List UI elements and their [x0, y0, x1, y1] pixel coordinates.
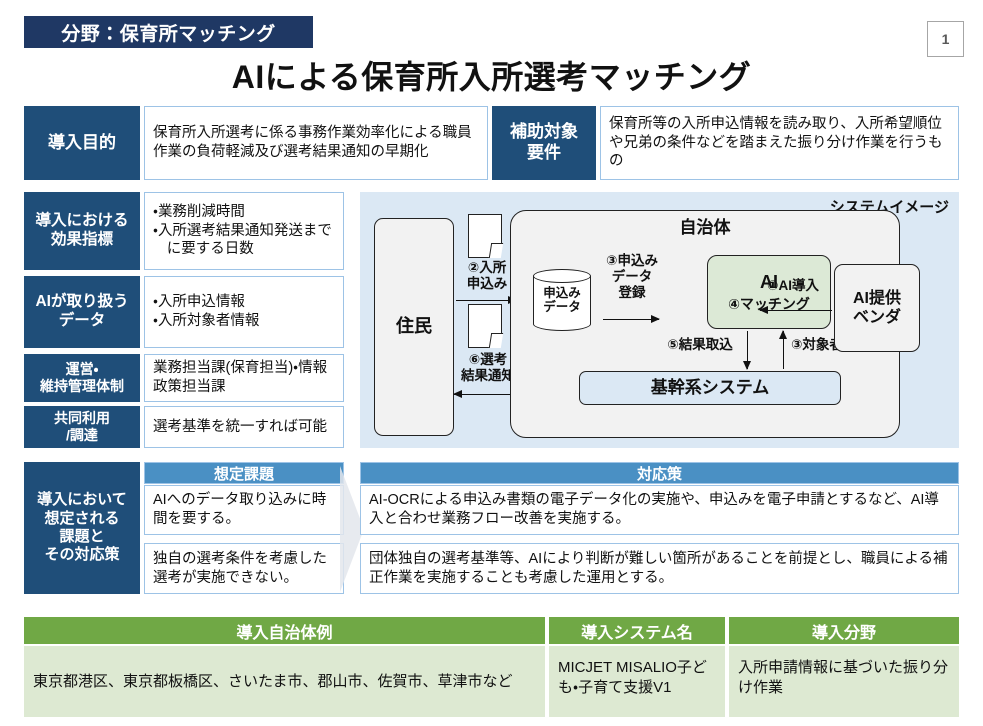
flow-6-arrow [454, 394, 514, 395]
ai-data-label-line2: データ [59, 312, 106, 329]
subsidy-text: 保育所等の入所申込情報を読み取り、入所希望順位や兄弟の条件などを踏まえた振り分け… [601, 110, 958, 176]
citizen-box: 住民 [374, 218, 454, 436]
issues-label-line4: その対応策 [44, 546, 119, 563]
slide-root: 分野：保育所マッチング 1 AIによる保育所入所選考マッチング 導入目的 保育所… [0, 0, 983, 726]
table-cell-system-name: MICJET MISALIO子ども・子育て支援V1 [549, 646, 727, 717]
shared-use-label-line1: 共同利用 [54, 410, 110, 426]
shared-use-value: 選考基準を統一すれば可能 [144, 406, 344, 448]
assumed-issue-1-text: AIへのデータ取り込みに時間を要する。 [145, 486, 343, 533]
kpi-label: 導入における 効果指標 [24, 192, 140, 270]
table-header-system-name: 導入システム名 [549, 617, 727, 644]
flow-2-arrow [456, 300, 516, 301]
database-label: 申込みデータ [533, 286, 591, 315]
flow-5-arrow [747, 331, 748, 369]
issues-label-line3: 課題と [59, 528, 104, 545]
purpose-value: 保育所入所選考に係る事務作業効率化による職員作業の負荷軽減及び選考結果通知の早期… [144, 106, 488, 180]
flow-5-label: ⑤結果取込 [659, 337, 741, 353]
ai-data-list: ・入所申込情報 ・入所対象者情報 [145, 288, 343, 335]
page-title: AIによる保育所入所選考マッチング [0, 52, 983, 98]
table-cell-system-name-text: MICJET MISALIO子ども・子育て支援V1 [549, 646, 725, 709]
assumed-issue-1: AIへのデータ取り込みに時間を要する。 [144, 485, 344, 535]
measure-header: 対応策 [360, 462, 959, 484]
kpi-value: ・業務削減時間 ・入所選考結果通知発送までに要する日数 [144, 192, 344, 270]
flow-3-register-arrow [603, 319, 659, 320]
subsidy-value: 保育所等の入所申込情報を読み取り、入所希望順位や兄弟の条件などを踏まえた振り分け… [600, 106, 959, 180]
assumed-issue-2: 独自の選考条件を考慮した選考が実施できない。 [144, 543, 344, 594]
flow-1-label: ①AI導入 [756, 278, 830, 294]
flow-3-target-arrow [783, 331, 784, 369]
kpi-label-line2: 効果指標 [51, 231, 113, 248]
table-cell-municipalities-text: 東京都港区、東京都板橋区、さいたま市、郡山市、佐賀市、草津市など [24, 660, 522, 704]
operations-value: 業務担当課(保育担当)・情報政策担当課 [144, 354, 344, 402]
ai-data-item-0: ・入所申込情報 [153, 293, 335, 312]
table-cell-field: 入所申請情報に基づいた振り分け作業 [729, 646, 959, 717]
application-database-icon: 申込みデータ [533, 269, 591, 331]
assumed-issue-header: 想定課題 [144, 462, 344, 484]
operations-text: 業務担当課(保育担当)・情報政策担当課 [145, 354, 343, 401]
adoption-table: 導入自治体例 導入システム名 導入分野 東京都港区、東京都板橋区、さいたま市、郡… [24, 617, 959, 717]
flow-1-arrow [760, 310, 832, 311]
purpose-text: 保育所入所選考に係る事務作業効率化による職員作業の負荷軽減及び選考結果通知の早期… [145, 119, 487, 166]
category-banner: 分野：保育所マッチング [24, 16, 313, 48]
kpi-item-0: ・業務削減時間 [153, 203, 335, 222]
operations-label: 運営・ 維持管理体制 [24, 354, 140, 402]
system-image-diagram: システムイメージ 住民 ②入所申込み ⑥選考結果通知 自治体 申込みデータ [360, 192, 959, 448]
ai-vendor-line1: AI提供 [853, 289, 901, 308]
issues-label-line2: 想定される [44, 510, 119, 527]
operations-label-line1: 運営・ [66, 361, 99, 377]
operations-label-line2: 維持管理体制 [40, 378, 124, 394]
ai-data-label: AIが取り扱う データ [24, 276, 140, 348]
kpi-label-line1: 導入における [35, 212, 128, 229]
subsidy-label-line2: 要件 [527, 143, 561, 162]
measure-1: AI-OCRによる申込み書類の電子データ化の実施や、申込みを電子申請とするなど、… [360, 485, 959, 535]
shared-use-text: 選考基準を統一すれば可能 [145, 413, 343, 442]
ai-data-item-1: ・入所対象者情報 [153, 312, 335, 331]
municipality-title: 自治体 [511, 218, 899, 238]
subsidy-label-line1: 補助対象 [510, 122, 578, 141]
measure-2: 団体独自の選考基準等、AIにより判断が難しい箇所があることを前提とし、職員による… [360, 543, 959, 594]
kpi-list: ・業務削減時間 ・入所選考結果通知発送までに要する日数 [145, 198, 343, 264]
shared-use-label: 共同利用 /調達 [24, 406, 140, 448]
table-cell-municipalities: 東京都港区、東京都板橋区、さいたま市、郡山市、佐賀市、草津市など [24, 646, 547, 717]
flow-3-register-label: ③申込み データ 登録 [597, 253, 667, 302]
shared-use-label-line2: /調達 [66, 427, 98, 443]
ai-data-value: ・入所申込情報 ・入所対象者情報 [144, 276, 344, 348]
notification-document-icon [468, 304, 502, 348]
subsidy-label: 補助対象 要件 [492, 106, 596, 180]
table-header-field: 導入分野 [729, 617, 959, 644]
ai-data-label-line1: AIが取り扱う [35, 293, 128, 310]
table-header-municipalities: 導入自治体例 [24, 617, 547, 644]
ai-vendor-line2: ベンダ [853, 308, 901, 327]
table-cell-field-text: 入所申請情報に基づいた振り分け作業 [729, 646, 959, 709]
flow-2-label: ②入所申込み [456, 260, 518, 292]
measure-2-text: 団体独自の選考基準等、AIにより判断が難しい箇所があることを前提とし、職員による… [361, 545, 958, 592]
assumed-issue-2-text: 独自の選考条件を考慮した選考が実施できない。 [145, 545, 343, 592]
core-system-box: 基幹系システム [579, 371, 841, 405]
ai-vendor-box: AI提供 ベンダ [834, 264, 920, 352]
issues-label: 導入において 想定される 課題と その対応策 [24, 462, 140, 594]
purpose-label: 導入目的 [24, 106, 140, 180]
measure-1-text: AI-OCRによる申込み書類の電子データ化の実施や、申込みを電子申請とするなど、… [361, 486, 958, 533]
kpi-item-1: ・入所選考結果通知発送までに要する日数 [153, 222, 335, 259]
issues-label-line1: 導入において [37, 491, 127, 508]
application-document-icon [468, 214, 502, 258]
